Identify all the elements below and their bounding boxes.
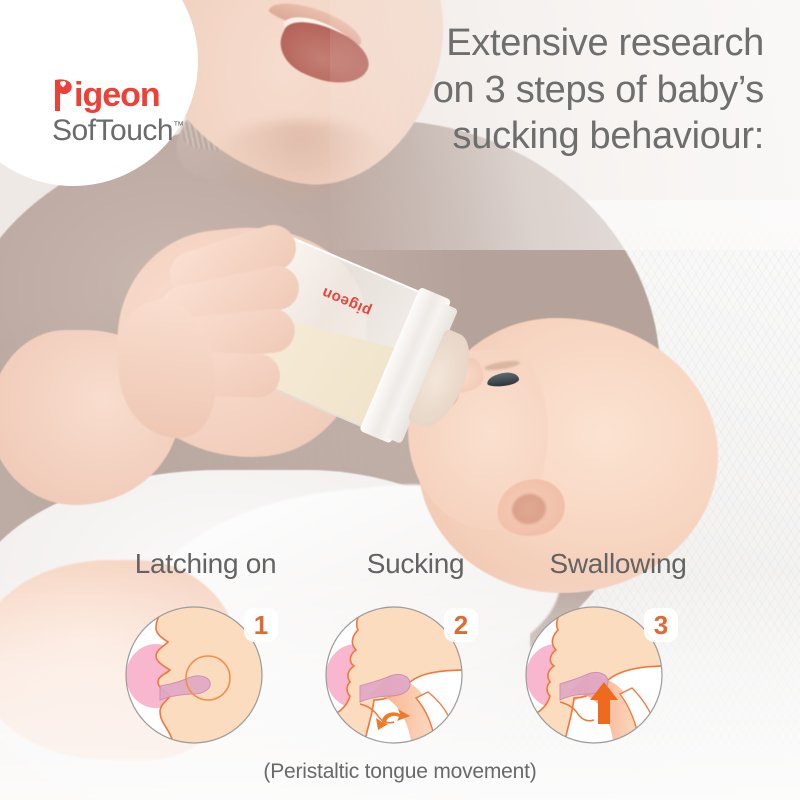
headline: Extensive research on 3 steps of baby’s …: [344, 20, 764, 160]
step-number-badge-1: 1: [244, 608, 278, 642]
step-diagrams: 1: [108, 600, 708, 750]
step-label-sucking: Sucking: [313, 548, 518, 580]
headline-line-3: sucking behaviour:: [344, 113, 764, 160]
step-label-latching-on: Latching on: [98, 548, 313, 580]
step-number-badge-3: 3: [644, 608, 678, 642]
step-labels: Latching on Sucking Swallowing: [98, 548, 718, 580]
diagram-sucking: 2: [308, 600, 508, 750]
diagram-swallowing: 3: [508, 600, 708, 750]
diagram-caption: (Peristaltic tongue movement): [0, 760, 800, 784]
diagram-latching-on: 1: [108, 600, 308, 750]
advertisement-poster: pigeon igeon SofTouch™ Extensive res: [0, 0, 800, 800]
trademark-symbol: ™: [173, 120, 184, 132]
headline-line-1: Extensive research: [344, 20, 764, 67]
brand-logo-softouch-text: SofTouch: [52, 114, 173, 147]
step-label-swallowing: Swallowing: [518, 548, 718, 580]
brand-logo-softouch: SofTouch™: [52, 114, 184, 149]
brand-logo-pigeon: igeon: [52, 78, 212, 112]
headline-line-2: on 3 steps of baby’s: [344, 67, 764, 114]
step-number-badge-2: 2: [444, 608, 478, 642]
brand-logo-pigeon-text: igeon: [74, 78, 160, 112]
brand-logo: igeon SofTouch™: [52, 78, 212, 149]
heart-p-icon: [52, 78, 74, 112]
